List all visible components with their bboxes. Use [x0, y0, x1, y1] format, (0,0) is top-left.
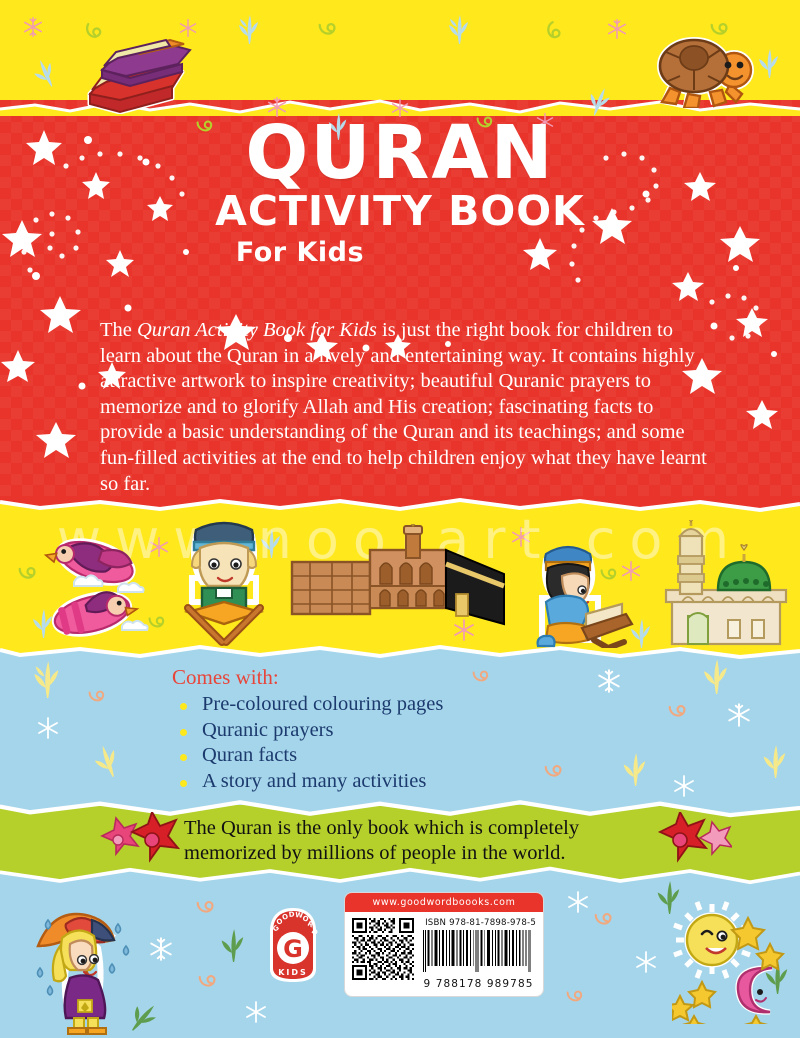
comes-with-list: Pre-coloured colouring pages Quranic pra… — [172, 692, 443, 794]
title-sub: ACTIVITY BOOK — [0, 190, 800, 233]
ean-barcode — [421, 930, 536, 972]
kaaba-icon — [288, 524, 508, 648]
blurb-book-title: Quran Activity Book for Kids — [137, 319, 377, 341]
title-main: QURAN — [0, 118, 800, 188]
list-item: Pre-coloured colouring pages — [172, 692, 443, 718]
book-stack-icon — [82, 36, 192, 114]
quran-fact-text: The Quran is the only book which is comp… — [184, 816, 614, 866]
blurb-prefix: The — [100, 319, 137, 341]
list-item: Quran facts — [172, 743, 443, 769]
blurb-rest: is just the right book for children to l… — [100, 319, 707, 495]
cover-title-block: QURAN ACTIVITY BOOK For Kids — [0, 118, 800, 268]
title-audience: For Kids — [0, 237, 800, 268]
blurb-paragraph: The Quran Activity Book for Kids is just… — [100, 318, 716, 497]
turtle-icon — [648, 36, 758, 108]
girl-umbrella-icon — [26, 894, 146, 1036]
ean-digits: 9 788178 989785 — [421, 978, 536, 990]
isbn-text: ISBN 978-81-7898-978-5 — [421, 918, 536, 928]
torn-edge-blue-green — [0, 798, 800, 812]
qr-code-icon[interactable] — [352, 918, 414, 980]
boy-reading-icon — [528, 536, 634, 648]
logo-kids-text: KIDS — [278, 968, 308, 977]
comes-with-heading: Comes with: — [172, 664, 443, 690]
logo-g-letter: G — [283, 935, 303, 963]
birds-icon — [34, 528, 164, 646]
list-item: Quranic prayers — [172, 718, 443, 744]
mosque-icon — [660, 520, 788, 648]
barcode-block: www.goodwordboooks.com — [345, 893, 543, 996]
flowers-icon — [96, 812, 180, 870]
book-back-cover: www.noorart.com — [0, 0, 800, 1038]
list-item: A story and many activities — [172, 769, 443, 795]
goodword-kids-logo: G O O D W O R D G KIDS — [262, 905, 324, 985]
sun-moon-stars-icon — [672, 900, 790, 1024]
comes-with-block: Comes with: Pre-coloured colouring pages… — [172, 664, 443, 794]
publisher-website[interactable]: www.goodwordboooks.com — [345, 893, 543, 912]
flowers-icon — [648, 812, 732, 870]
boy-with-quran-icon — [172, 516, 276, 646]
